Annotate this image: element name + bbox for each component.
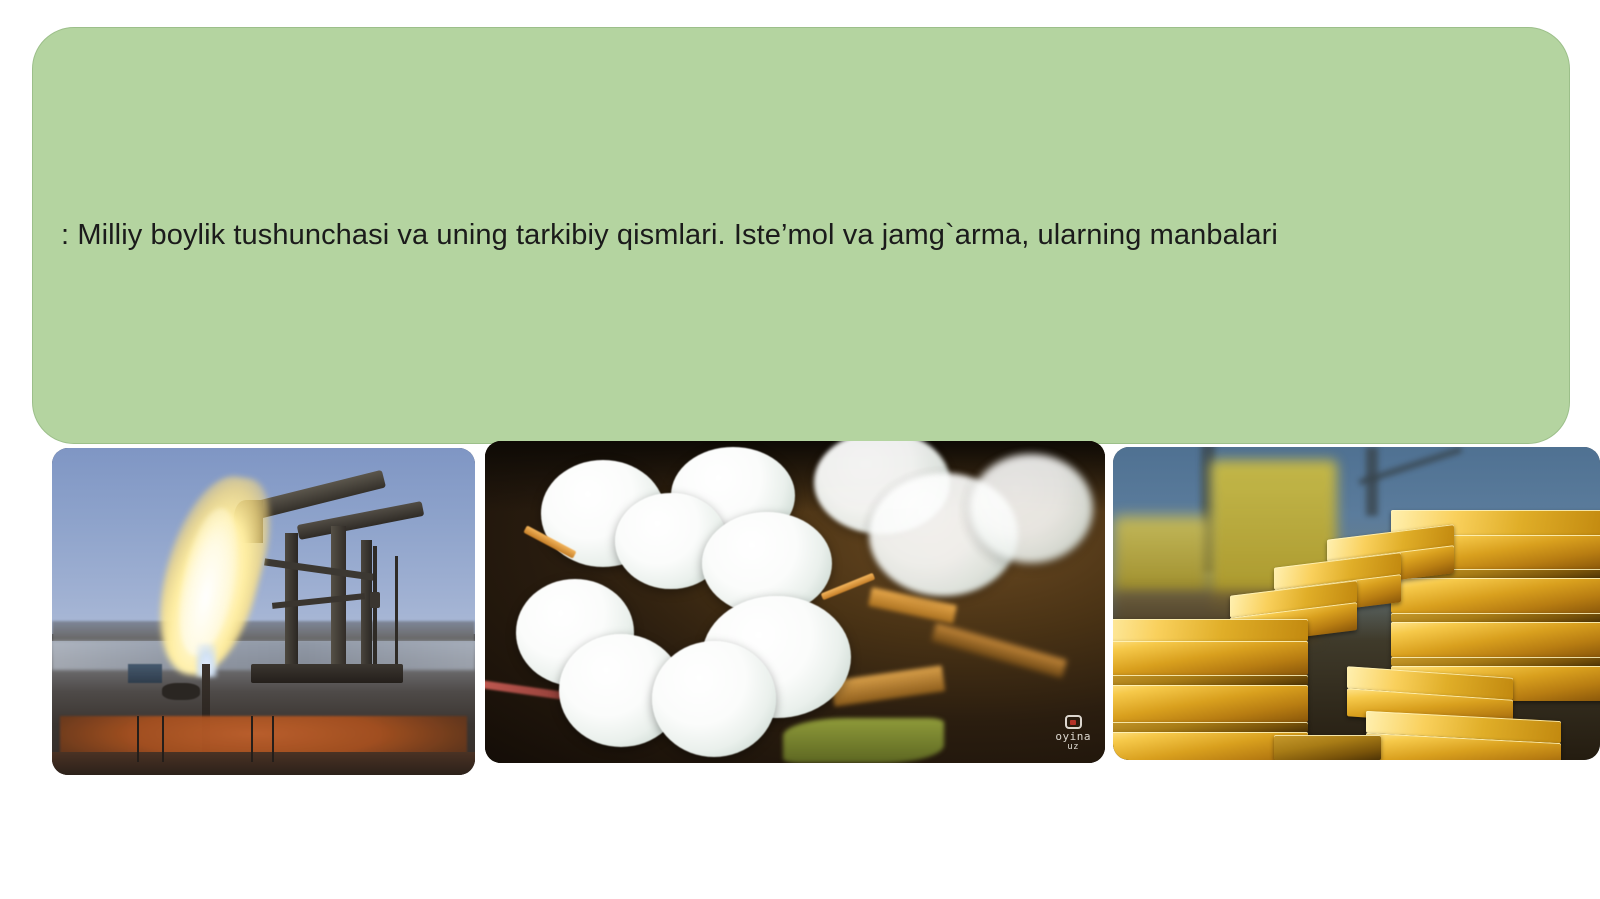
polished-rod	[373, 546, 376, 670]
slide-canvas: : Milliy boylik tushunchasi va uning tar…	[0, 0, 1600, 899]
gold-bars-photo[interactable]	[1113, 447, 1600, 760]
gold-scene	[1113, 447, 1600, 760]
oil-gas-scene	[52, 448, 475, 775]
oyina-watermark: oyina uz	[1055, 715, 1091, 753]
gold-bar	[1113, 685, 1308, 723]
page-title: : Milliy boylik tushunchasi va uning tar…	[33, 217, 1306, 253]
cotton-boll	[652, 641, 776, 757]
gold-bar	[1113, 675, 1308, 684]
cotton-scene: oyina uz	[485, 441, 1105, 763]
oil-gas-flare-photo[interactable]	[52, 448, 475, 775]
gold-bar	[1391, 613, 1600, 622]
cotton-leaf	[783, 718, 944, 763]
storage-tank	[162, 683, 200, 699]
watermark-name: oyina	[1055, 731, 1091, 742]
watermark-tld: uz	[1067, 742, 1079, 753]
field-building	[128, 664, 162, 684]
title-panel[interactable]: : Milliy boylik tushunchasi va uning tar…	[32, 27, 1570, 444]
pumpjack-base-skid	[251, 664, 403, 684]
fence-post	[162, 716, 164, 762]
gold-bar	[1113, 641, 1308, 675]
gold-bar	[1391, 657, 1600, 666]
polished-rod-2	[395, 556, 398, 667]
foreground-soil	[52, 752, 475, 775]
tv-icon	[1065, 715, 1082, 729]
cotton-boll	[969, 454, 1093, 563]
counterweight	[370, 592, 380, 608]
pumpjack-samson-post-3	[361, 540, 372, 677]
gold-bar	[1391, 578, 1600, 612]
fence-post	[272, 716, 274, 762]
fence-post	[137, 716, 139, 762]
fence-post	[251, 716, 253, 762]
yellow-truck	[1113, 516, 1210, 597]
gold-bar	[1391, 622, 1600, 656]
gold-bar	[1113, 722, 1308, 731]
gold-bar	[1274, 735, 1381, 760]
gold-bar	[1113, 619, 1308, 641]
cotton-bolls-photo[interactable]: oyina uz	[485, 441, 1105, 763]
